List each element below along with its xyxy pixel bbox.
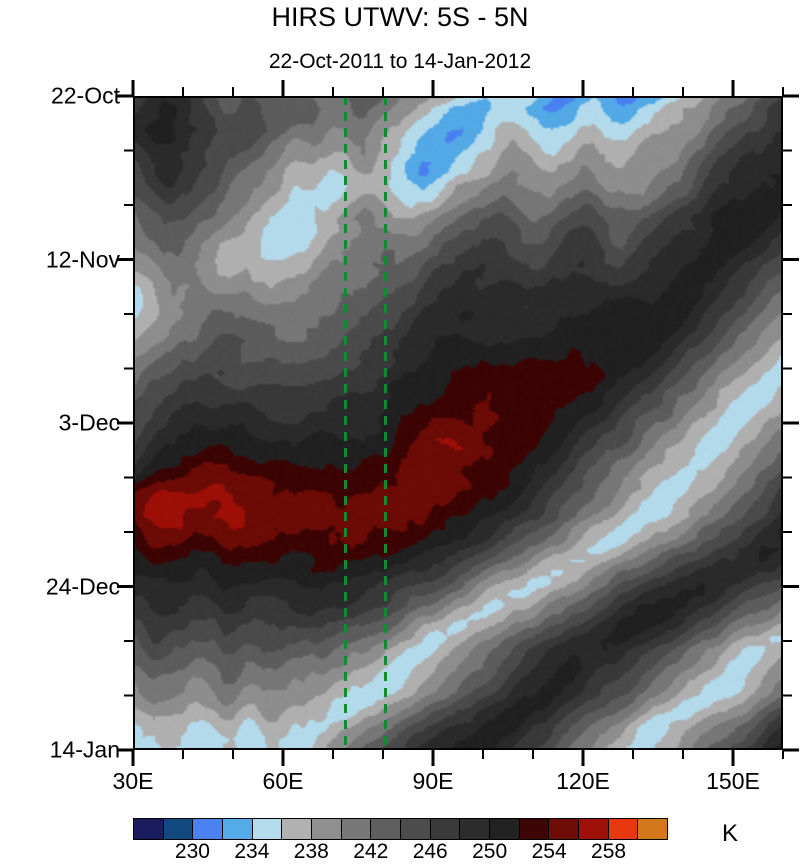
x-tick-label: 30E: [113, 768, 154, 795]
colorbar[interactable]: [133, 818, 668, 840]
x-tick-label: 90E: [413, 768, 454, 795]
colorbar-swatch[interactable]: [401, 819, 431, 839]
y-tick-label: 24-Dec: [46, 573, 120, 600]
colorbar-swatch[interactable]: [312, 819, 342, 839]
colorbar-unit-label: K: [722, 820, 738, 848]
colorbar-swatch[interactable]: [609, 819, 639, 839]
plot-area[interactable]: [133, 96, 783, 750]
y-tick-label: 12-Nov: [46, 246, 120, 273]
colorbar-swatch[interactable]: [223, 819, 253, 839]
y-axis-labels: 22-Oct12-Nov3-Dec24-Dec14-Jan: [0, 96, 120, 750]
colorbar-swatch[interactable]: [134, 819, 164, 839]
colorbar-tick-label: 238: [294, 840, 329, 864]
hovmoller-figure: HIRS UTWV: 5S - 5N 22-Oct-2011 to 14-Jan…: [0, 0, 800, 863]
colorbar-tick-labels: 230234238242246250254258: [133, 840, 668, 864]
colorbar-swatch[interactable]: [282, 819, 312, 839]
longitude-marker-lines: [133, 96, 783, 750]
x-axis-labels: 30E60E90E120E150E: [133, 768, 783, 802]
colorbar-swatch[interactable]: [638, 819, 667, 839]
x-tick-label: 120E: [556, 768, 610, 795]
colorbar-tick-label: 254: [532, 840, 567, 864]
colorbar-swatch[interactable]: [520, 819, 550, 839]
colorbar-swatch[interactable]: [579, 819, 609, 839]
colorbar-swatch[interactable]: [193, 819, 223, 839]
x-tick-label: 60E: [263, 768, 304, 795]
page-title: HIRS UTWV: 5S - 5N: [0, 2, 800, 33]
colorbar-swatch[interactable]: [549, 819, 579, 839]
y-tick-label: 22-Oct: [51, 83, 120, 110]
colorbar-swatch[interactable]: [164, 819, 194, 839]
colorbar-swatch[interactable]: [253, 819, 283, 839]
colorbar-swatch[interactable]: [342, 819, 372, 839]
colorbar-tick-label: 246: [413, 840, 448, 864]
colorbar-tick-label: 242: [353, 840, 388, 864]
x-tick-label: 150E: [706, 768, 760, 795]
y-tick-label: 14-Jan: [50, 737, 120, 764]
colorbar-swatch[interactable]: [371, 819, 401, 839]
figure-subtitle: 22-Oct-2011 to 14-Jan-2012: [0, 50, 800, 74]
y-tick-label: 3-Dec: [59, 410, 120, 437]
colorbar-tick-label: 250: [472, 840, 507, 864]
colorbar-swatch[interactable]: [490, 819, 520, 839]
colorbar-swatch[interactable]: [431, 819, 461, 839]
colorbar-tick-label: 234: [234, 840, 269, 864]
colorbar-tick-label: 230: [175, 840, 210, 864]
colorbar-swatch[interactable]: [460, 819, 490, 839]
colorbar-tick-label: 258: [591, 840, 626, 864]
